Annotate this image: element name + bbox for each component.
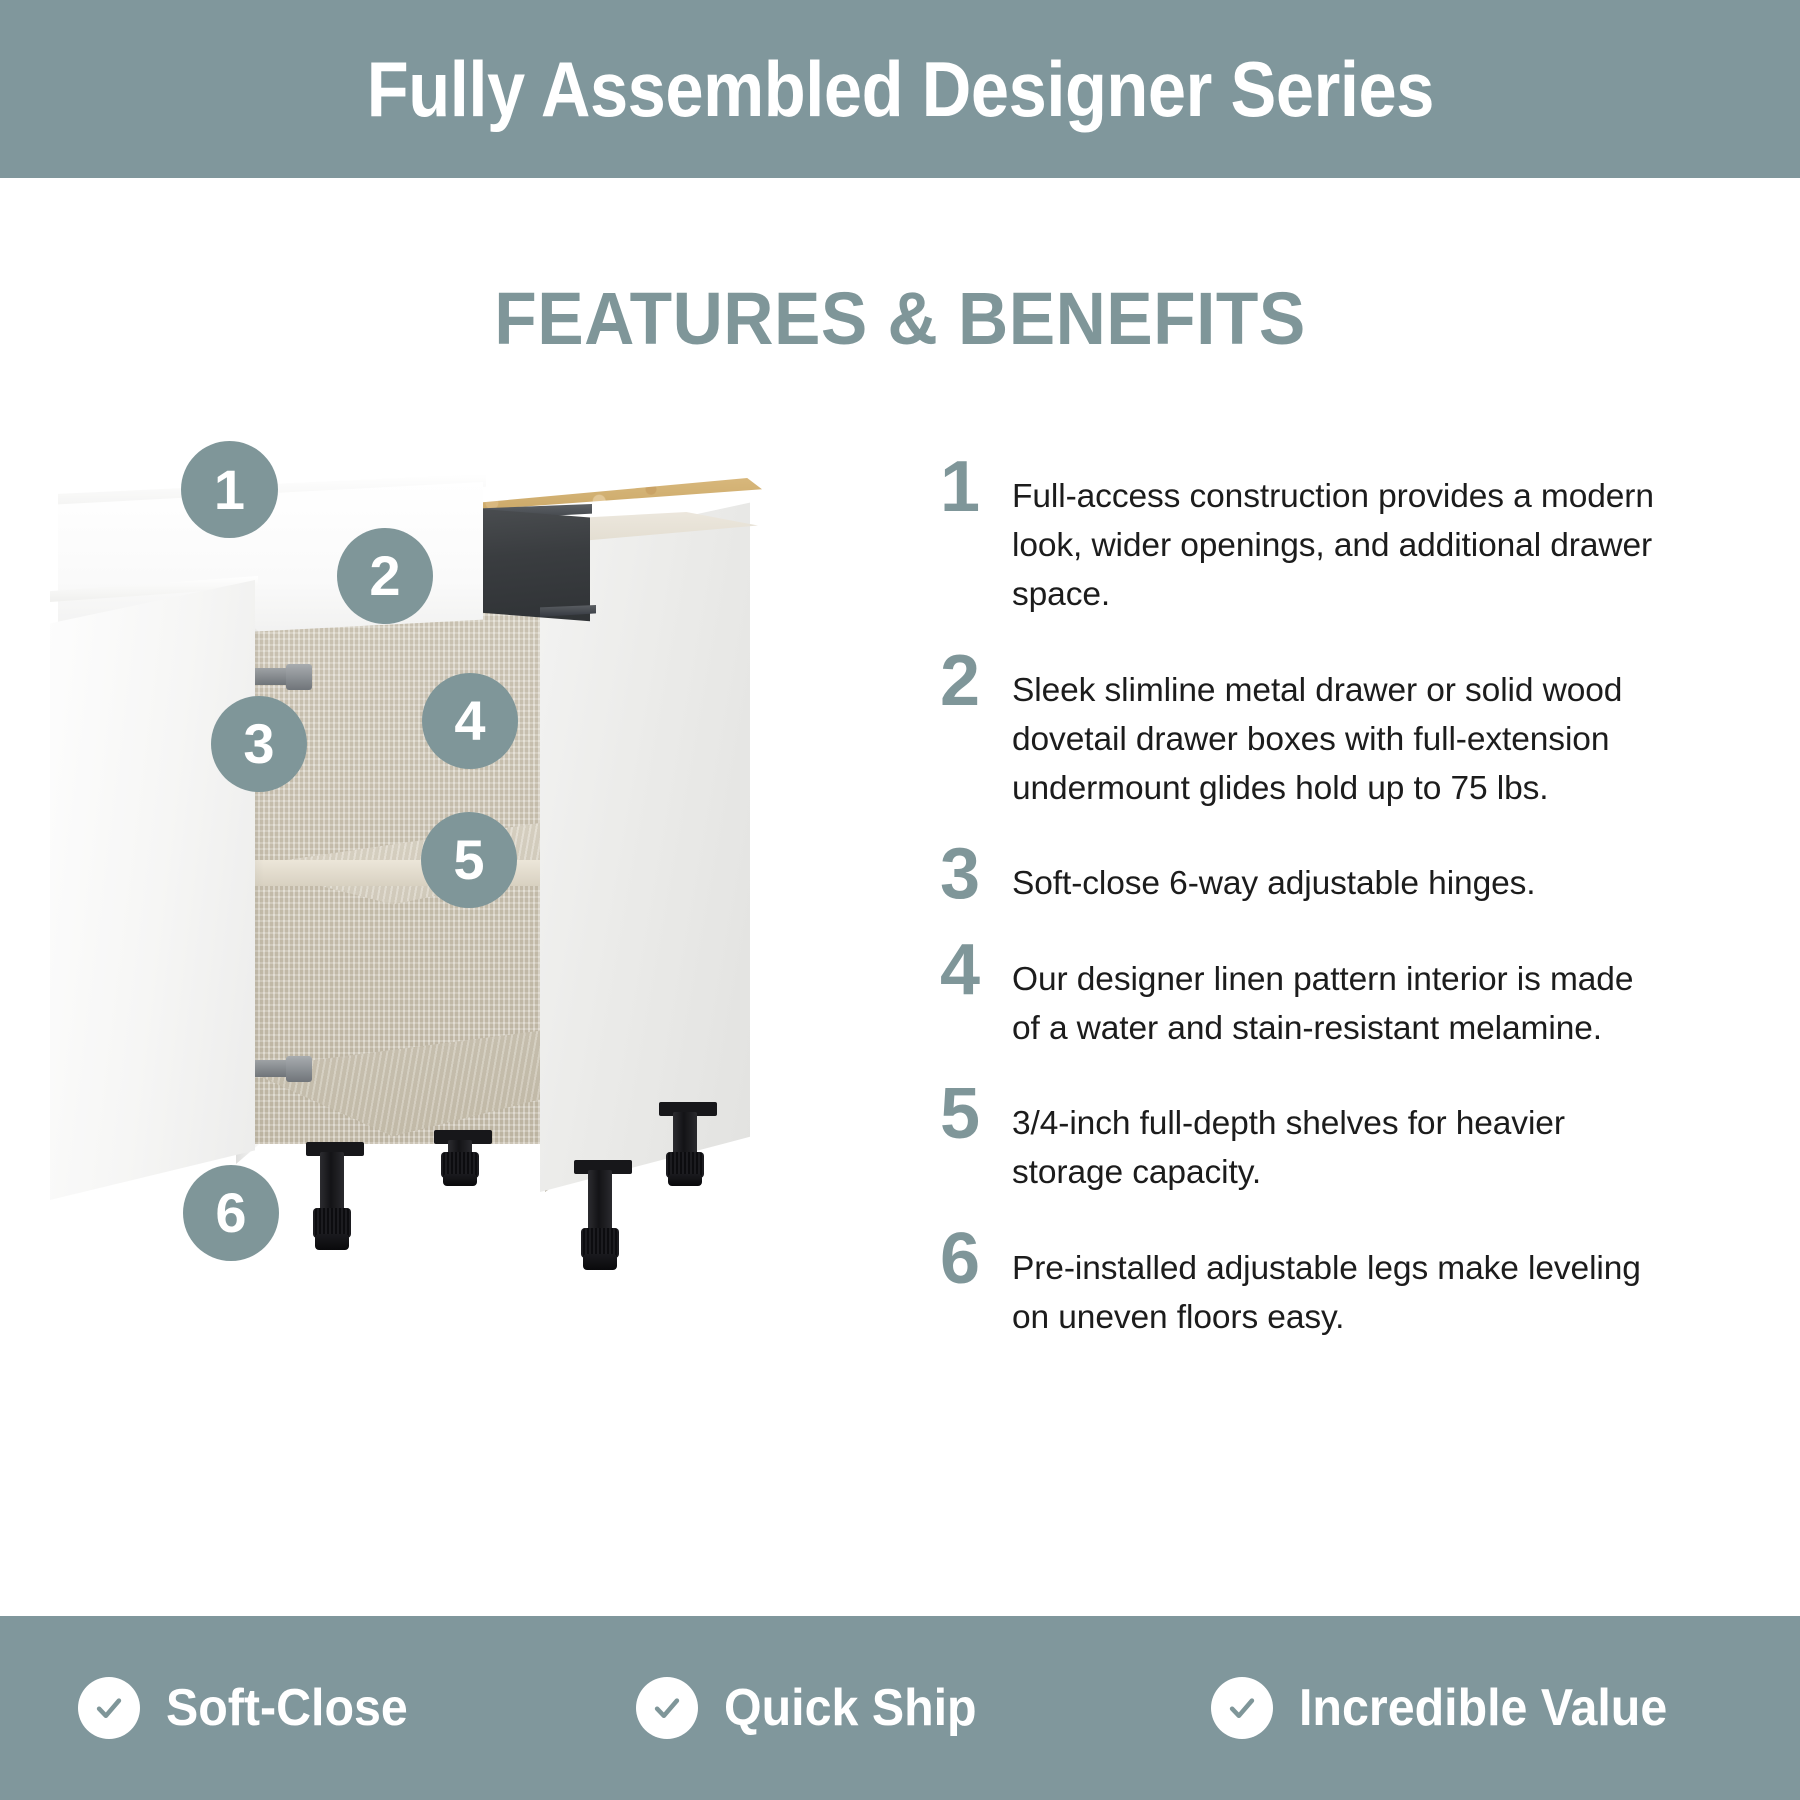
leg-foot	[668, 1174, 702, 1186]
footer-badge-label: Quick Ship	[724, 1682, 977, 1734]
feature-text: Soft-close 6-way adjustable hinges.	[1012, 839, 1660, 908]
check-icon	[1211, 1677, 1273, 1739]
callout-badge-6: 6	[183, 1165, 279, 1261]
feature-text: Sleek slimline metal drawer or solid woo…	[1012, 646, 1660, 814]
check-icon	[78, 1677, 140, 1739]
leg-foot	[315, 1234, 349, 1250]
feature-number: 6	[940, 1224, 1012, 1292]
callout-badge-2: 2	[337, 528, 433, 624]
feature-number: 4	[940, 935, 1012, 1003]
footer-badge-label: Incredible Value	[1299, 1682, 1667, 1734]
callout-badge-3: 3	[211, 696, 307, 792]
footer-badge-soft-close: Soft-Close	[78, 1677, 426, 1739]
feature-number: 5	[940, 1079, 1012, 1147]
hinge-cup	[286, 1056, 312, 1082]
feature-list: 1 Full-access construction provides a mo…	[940, 452, 1660, 1368]
footer-badge-label: Soft-Close	[166, 1682, 408, 1734]
feature-item-2: 2 Sleek slimline metal drawer or solid w…	[940, 646, 1660, 814]
leg-post	[320, 1152, 344, 1214]
header-bar: Fully Assembled Designer Series	[0, 0, 1800, 178]
feature-item-4: 4 Our designer linen pattern interior is…	[940, 935, 1660, 1053]
feature-number: 3	[940, 839, 1012, 907]
footer-badge-quick-ship: Quick Ship	[636, 1677, 996, 1739]
feature-number: 2	[940, 646, 1012, 714]
cabinet-door	[50, 580, 255, 1200]
feature-text: 3/4-inch full-depth shelves for heavier …	[1012, 1079, 1660, 1197]
feature-text: Pre-installed adjustable legs make level…	[1012, 1224, 1660, 1342]
feature-text: Full-access construction provides a mode…	[1012, 452, 1660, 620]
feature-item-1: 1 Full-access construction provides a mo…	[940, 452, 1660, 620]
footer-bar: Soft-Close Quick Ship Incredible Value	[0, 1616, 1800, 1800]
infographic-page: Fully Assembled Designer Series FEATURES…	[0, 0, 1800, 1800]
check-icon	[636, 1677, 698, 1739]
feature-item-5: 5 3/4-inch full-depth shelves for heavie…	[940, 1079, 1660, 1197]
footer-badge-incredible-value: Incredible Value	[1211, 1677, 1695, 1739]
leg-foot	[583, 1254, 617, 1270]
page-title: Fully Assembled Designer Series	[366, 50, 1433, 128]
feature-number: 1	[940, 452, 1012, 520]
feature-text: Our designer linen pattern interior is m…	[1012, 935, 1660, 1053]
callout-badge-4: 4	[422, 673, 518, 769]
leg-foot	[443, 1174, 477, 1186]
hinge-cup	[286, 664, 312, 690]
section-heading: FEATURES & BENEFITS	[54, 282, 1746, 356]
leg-post	[588, 1170, 612, 1234]
feature-item-3: 3 Soft-close 6-way adjustable hinges.	[940, 839, 1660, 908]
callout-badge-1: 1	[181, 441, 278, 538]
callout-badge-5: 5	[421, 812, 517, 908]
feature-item-6: 6 Pre-installed adjustable legs make lev…	[940, 1224, 1660, 1342]
